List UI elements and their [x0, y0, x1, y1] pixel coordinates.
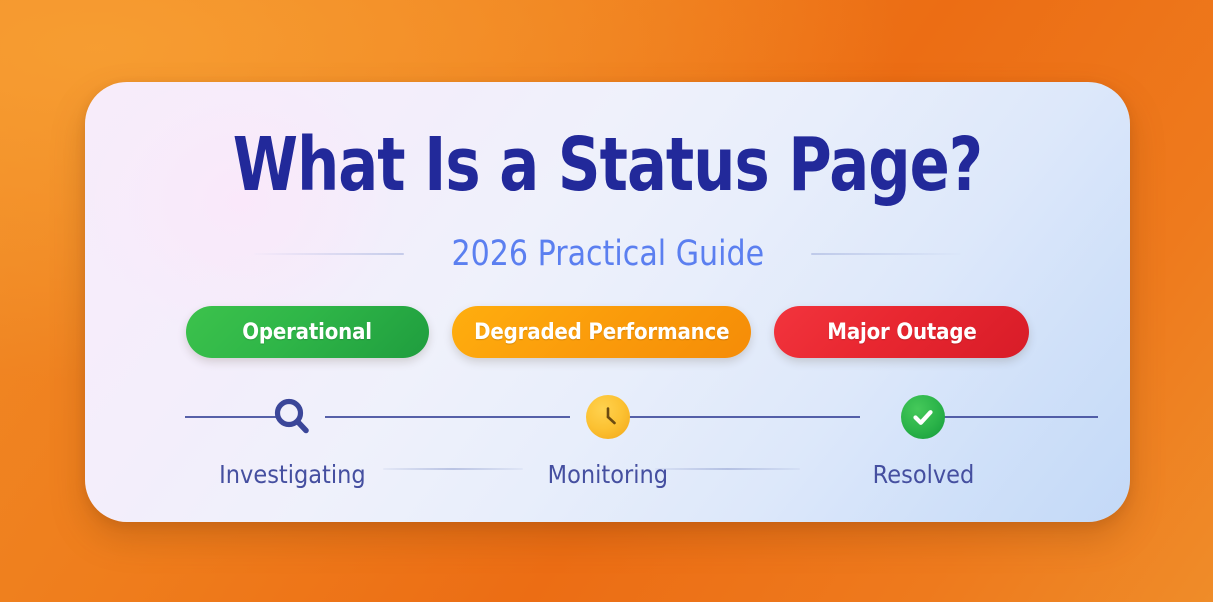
- timeline-step-monitoring-label: Monitoring: [547, 460, 667, 489]
- timeline-step-investigating[interactable]: Investigating: [197, 392, 387, 489]
- timeline-step-monitoring[interactable]: Monitoring: [513, 392, 703, 489]
- status-page-hero-card: What Is a Status Page? 2026 Practical Gu…: [85, 82, 1130, 522]
- subtitle-rule-right: [811, 253, 961, 255]
- timeline-step-investigating-label: Investigating: [219, 460, 366, 489]
- status-badge-operational-label: Operational: [243, 320, 373, 345]
- check-circle-icon-face: [901, 395, 945, 439]
- status-badge-degraded-performance[interactable]: Degraded Performance: [452, 306, 751, 358]
- clock-icon-face: [586, 395, 630, 439]
- timeline-step-resolved-label: Resolved: [872, 460, 974, 489]
- status-badge-operational[interactable]: Operational: [186, 306, 429, 358]
- status-badge-major-outage-label: Major Outage: [827, 320, 976, 345]
- incident-timeline: Investigating Monitoring: [185, 392, 1030, 492]
- check-circle-icon: [898, 392, 948, 442]
- magnifier-icon: [267, 392, 317, 442]
- timeline-step-resolved[interactable]: Resolved: [828, 392, 1018, 489]
- status-badge-major-outage[interactable]: Major Outage: [774, 306, 1029, 358]
- page-title: What Is a Status Page?: [190, 128, 1026, 202]
- subtitle-row: 2026 Practical Guide: [85, 234, 1130, 274]
- subtitle-rule-left: [254, 253, 404, 255]
- status-badge-degraded-performance-label: Degraded Performance: [474, 320, 729, 345]
- status-badge-group: Operational Degraded Performance Major O…: [85, 306, 1130, 358]
- clock-icon: [583, 392, 633, 442]
- page-subtitle: 2026 Practical Guide: [451, 234, 764, 274]
